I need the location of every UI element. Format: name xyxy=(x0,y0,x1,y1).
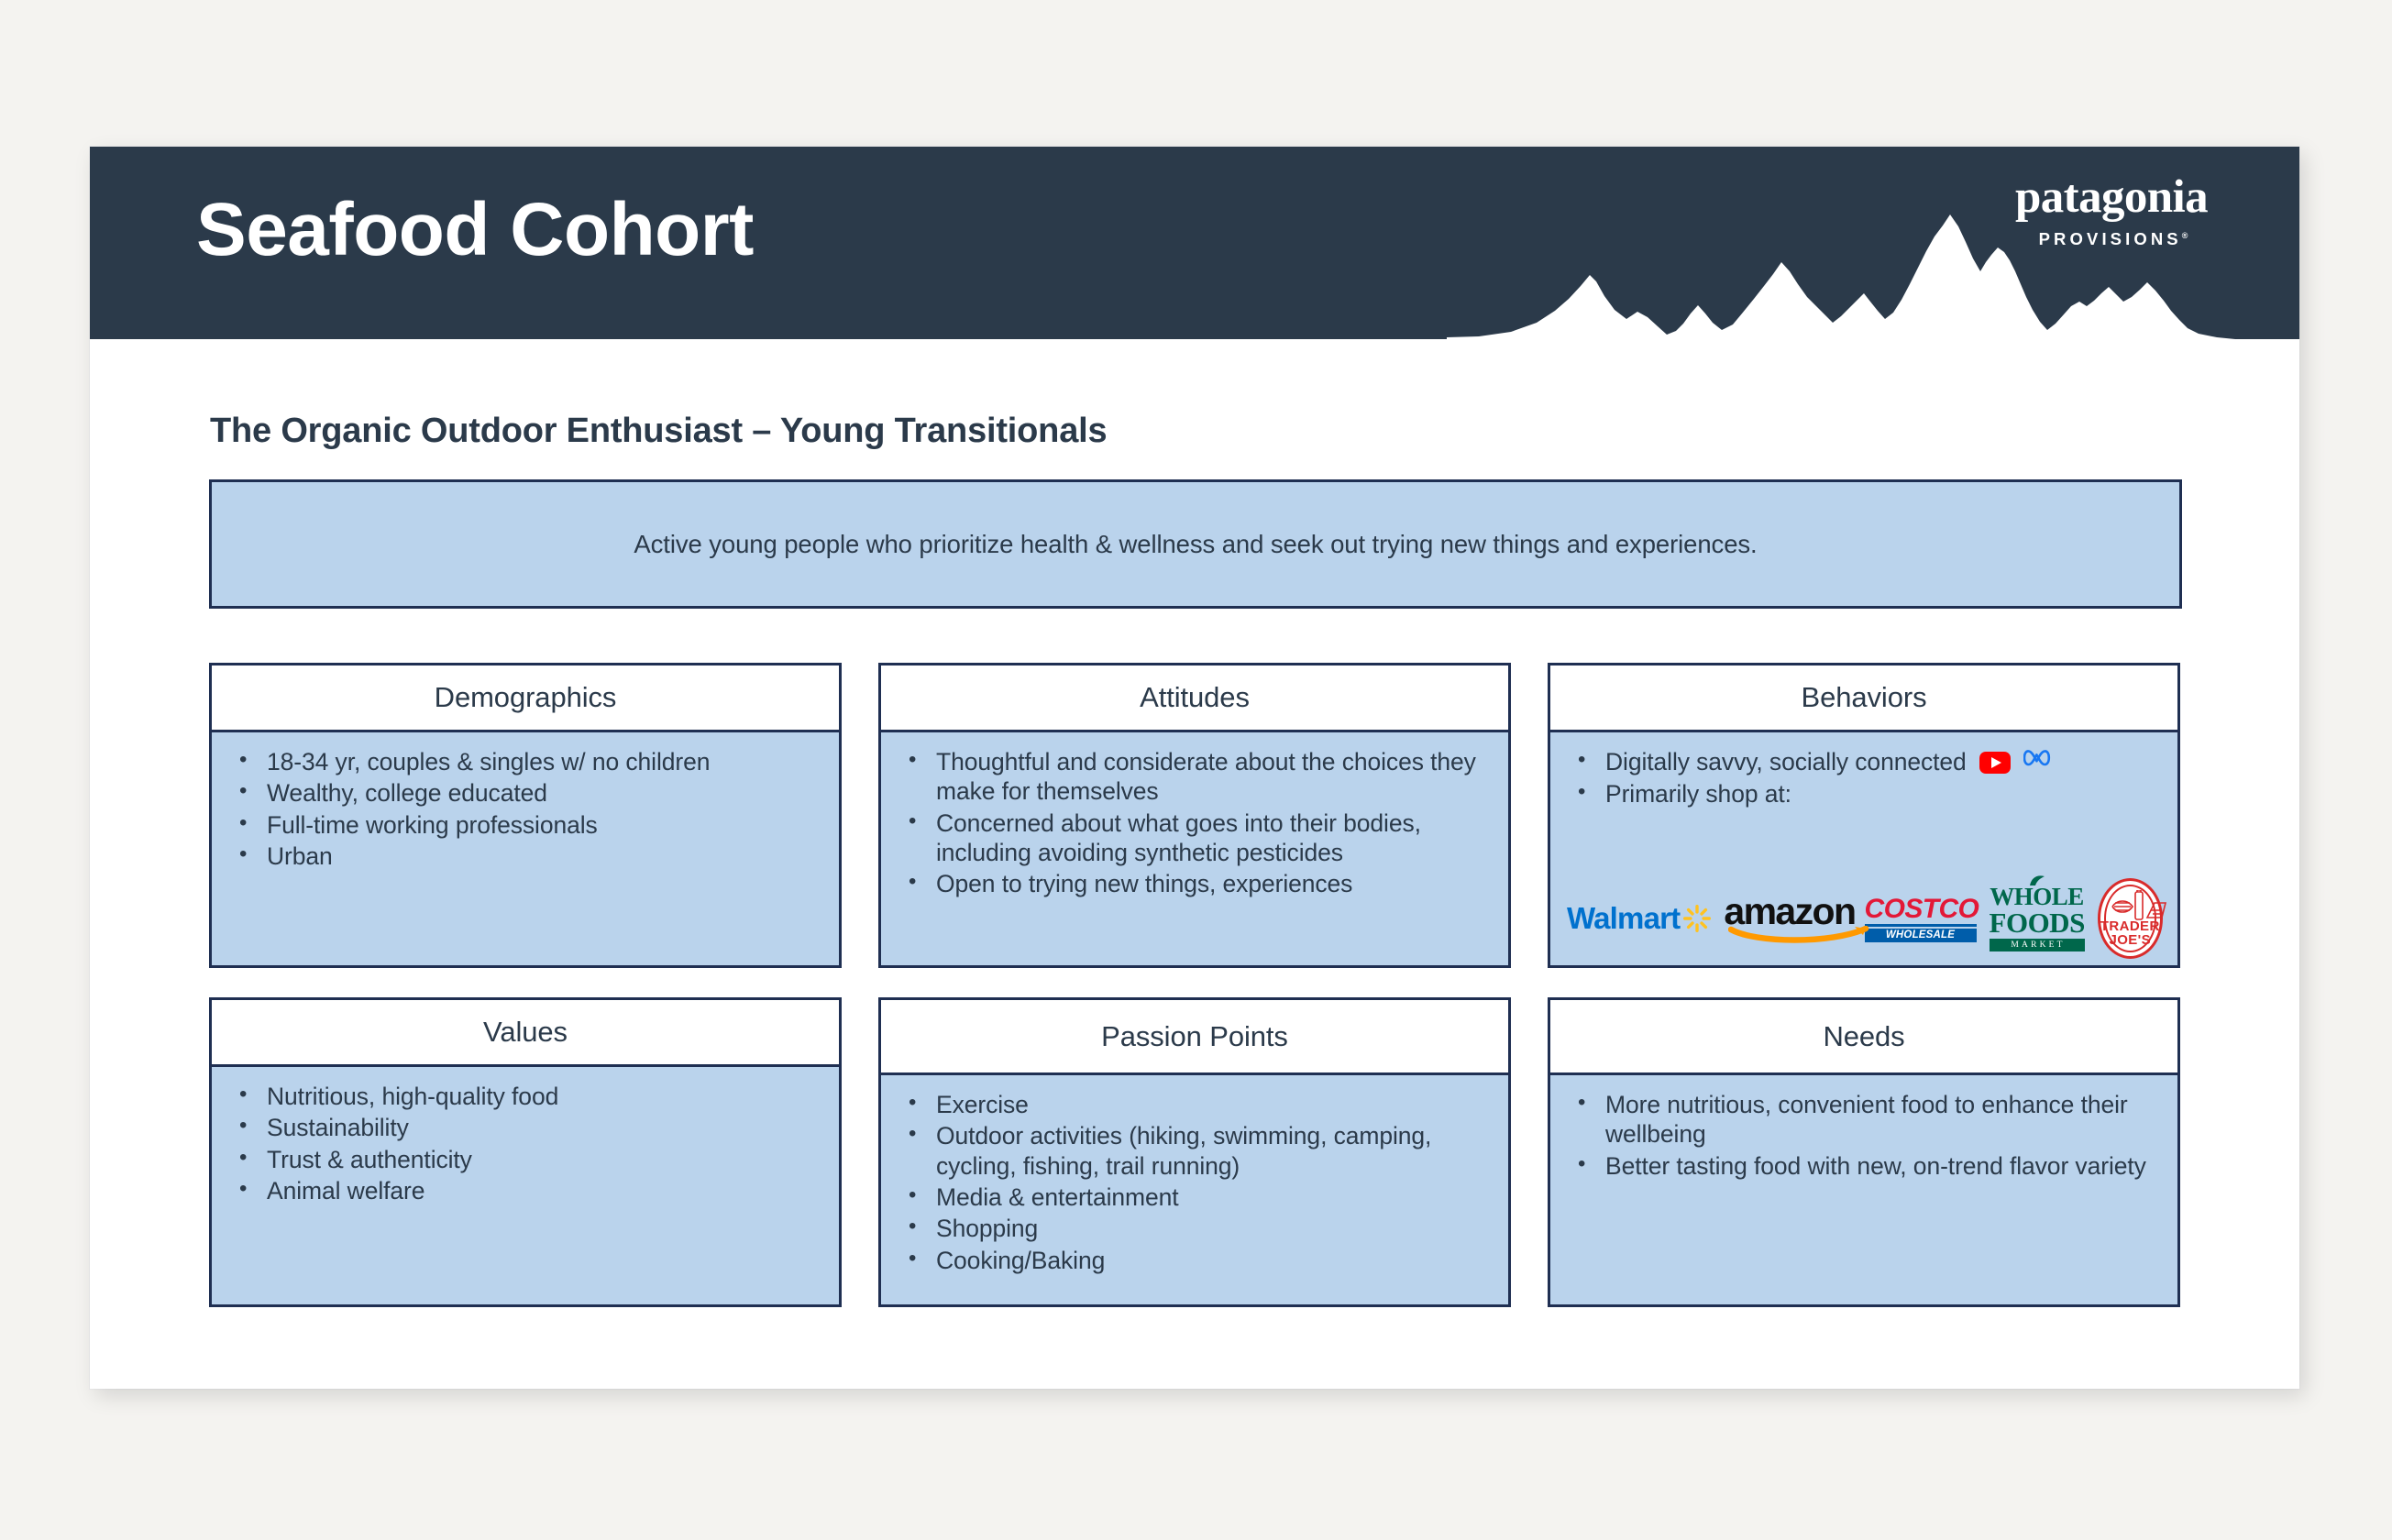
card-row-bottom: Values Nutritious, high-quality food Sus… xyxy=(209,997,2182,1307)
trader-joes-logo: TRADER JOE'S xyxy=(2098,878,2163,959)
trader-joes-line-2: JOE'S xyxy=(2109,933,2151,948)
costco-rule xyxy=(1865,924,1977,927)
card-values: Values Nutritious, high-quality food Sus… xyxy=(209,997,842,1307)
list-item: Shopping xyxy=(901,1214,1488,1243)
costco-bars: WHOLESALE xyxy=(1865,924,1977,942)
registered-mark-icon: ® xyxy=(2182,231,2188,240)
walmart-spark-icon xyxy=(1683,905,1711,932)
walmart-logo-label: Walmart xyxy=(1567,901,1680,936)
persona-summary-banner: Active young people who prioritize healt… xyxy=(209,479,2182,609)
bullet-list: 18-34 yr, couples & singles w/ no childr… xyxy=(232,747,819,871)
costco-logo: COSTCO WHOLESALE xyxy=(1865,896,1977,942)
card-passion-points: Passion Points Exercise Outdoor activiti… xyxy=(878,997,1511,1307)
costco-logo-label: COSTCO xyxy=(1865,896,1977,923)
meta-icon[interactable] xyxy=(2023,748,2055,777)
amazon-swoosh-icon xyxy=(1728,926,1875,946)
persona-card-grid: Demographics 18-34 yr, couples & singles… xyxy=(209,663,2182,1307)
list-item: Nutritious, high-quality food xyxy=(232,1082,819,1111)
card-body-behaviors: Digitally savvy, socially connected xyxy=(1550,732,2177,965)
amazon-logo: amazon xyxy=(1724,893,1851,944)
logo-subwordmark: PROVISIONS® xyxy=(2015,229,2208,249)
card-header-needs: Needs xyxy=(1550,1000,2177,1075)
card-body-attitudes: Thoughtful and considerate about the cho… xyxy=(881,732,1508,965)
list-item: Cooking/Baking xyxy=(901,1246,1488,1275)
list-item: Open to trying new things, experiences xyxy=(901,869,1488,898)
leaf-icon xyxy=(2028,874,2046,887)
persona-title: The Organic Outdoor Enthusiast – Young T… xyxy=(210,412,1107,451)
list-item: Digitally savvy, socially connected xyxy=(1571,747,2157,777)
whole-foods-line-2: FOODS xyxy=(1990,909,2085,936)
bullet-list: Exercise Outdoor activities (hiking, swi… xyxy=(901,1090,1488,1275)
list-item: Concerned about what goes into their bod… xyxy=(901,808,1488,868)
list-item: More nutritious, convenient food to enha… xyxy=(1571,1090,2157,1149)
list-item: Media & entertainment xyxy=(901,1182,1488,1212)
card-title: Behaviors xyxy=(1802,681,1927,714)
card-body-values: Nutritious, high-quality food Sustainabi… xyxy=(212,1067,839,1304)
card-body-demographics: 18-34 yr, couples & singles w/ no childr… xyxy=(212,732,839,965)
card-header-values: Values xyxy=(212,1000,839,1067)
list-item-label: Digitally savvy, socially connected xyxy=(1605,748,1967,775)
slide: Seafood Cohort patagonia PROVISIONS® The… xyxy=(90,147,2299,1389)
card-title: Attitudes xyxy=(1140,681,1250,714)
card-header-behaviors: Behaviors xyxy=(1550,665,2177,732)
trader-joes-line-1: TRADER xyxy=(2100,919,2160,934)
bullet-list: Nutritious, high-quality food Sustainabi… xyxy=(232,1082,819,1205)
list-item: Full-time working professionals xyxy=(232,810,819,840)
card-body-passion-points: Exercise Outdoor activities (hiking, swi… xyxy=(881,1075,1508,1304)
card-title: Needs xyxy=(1823,1020,1904,1053)
card-title: Passion Points xyxy=(1101,1020,1288,1053)
card-title: Values xyxy=(483,1016,568,1049)
whole-foods-sublabel: MARKET xyxy=(1990,939,2085,951)
card-demographics: Demographics 18-34 yr, couples & singles… xyxy=(209,663,842,968)
list-item: 18-34 yr, couples & singles w/ no childr… xyxy=(232,747,819,776)
card-needs: Needs More nutritious, convenient food t… xyxy=(1548,997,2180,1307)
list-item: Exercise xyxy=(901,1090,1488,1119)
card-behaviors: Behaviors Digitally savvy, socially conn… xyxy=(1548,663,2180,968)
costco-logo-sublabel: WHOLESALE xyxy=(1865,929,1977,942)
logo-wordmark: patagonia xyxy=(2015,174,2208,221)
bullet-list: Digitally savvy, socially connected xyxy=(1571,747,2157,809)
list-item: Thoughtful and considerate about the cho… xyxy=(901,747,1488,807)
card-header-attitudes: Attitudes xyxy=(881,665,1508,732)
whole-foods-line-1: WHOLE xyxy=(1990,885,2085,909)
card-attitudes: Attitudes Thoughtful and considerate abo… xyxy=(878,663,1511,968)
slide-header: Seafood Cohort patagonia PROVISIONS® xyxy=(90,147,2299,339)
patagonia-provisions-logo: patagonia PROVISIONS® xyxy=(2015,174,2208,249)
card-title: Demographics xyxy=(435,681,617,714)
retailer-logo-strip: Walmart xyxy=(1567,885,2163,952)
list-item: Trust & authenticity xyxy=(232,1145,819,1174)
screenshot-stage: Seafood Cohort patagonia PROVISIONS® The… xyxy=(0,0,2392,1540)
amazon-logo-label: amazon xyxy=(1724,893,1855,930)
list-item: Animal welfare xyxy=(232,1176,819,1205)
card-row-top: Demographics 18-34 yr, couples & singles… xyxy=(209,663,2182,968)
bullet-list: Thoughtful and considerate about the cho… xyxy=(901,747,1488,899)
list-item: Wealthy, college educated xyxy=(232,778,819,808)
bullet-list: More nutritious, convenient food to enha… xyxy=(1571,1090,2157,1181)
list-item: Sustainability xyxy=(232,1113,819,1142)
walmart-logo: Walmart xyxy=(1567,901,1711,936)
list-item: Outdoor activities (hiking, swimming, ca… xyxy=(901,1121,1488,1181)
card-header-passion-points: Passion Points xyxy=(881,1000,1508,1075)
card-body-needs: More nutritious, convenient food to enha… xyxy=(1550,1075,2177,1304)
logo-subwordmark-text: PROVISIONS xyxy=(2039,229,2182,248)
list-item: Primarily shop at: xyxy=(1571,779,2157,808)
slide-title: Seafood Cohort xyxy=(196,187,754,273)
list-item: Urban xyxy=(232,841,819,871)
card-header-demographics: Demographics xyxy=(212,665,839,732)
persona-summary-text: Active young people who prioritize healt… xyxy=(634,530,1757,559)
list-item: Better tasting food with new, on-trend f… xyxy=(1571,1151,2157,1181)
whole-foods-logo: WHOLE FOODS MARKET xyxy=(1990,885,2085,951)
youtube-icon[interactable] xyxy=(1979,752,2011,774)
social-platform-icons xyxy=(1979,748,2055,777)
